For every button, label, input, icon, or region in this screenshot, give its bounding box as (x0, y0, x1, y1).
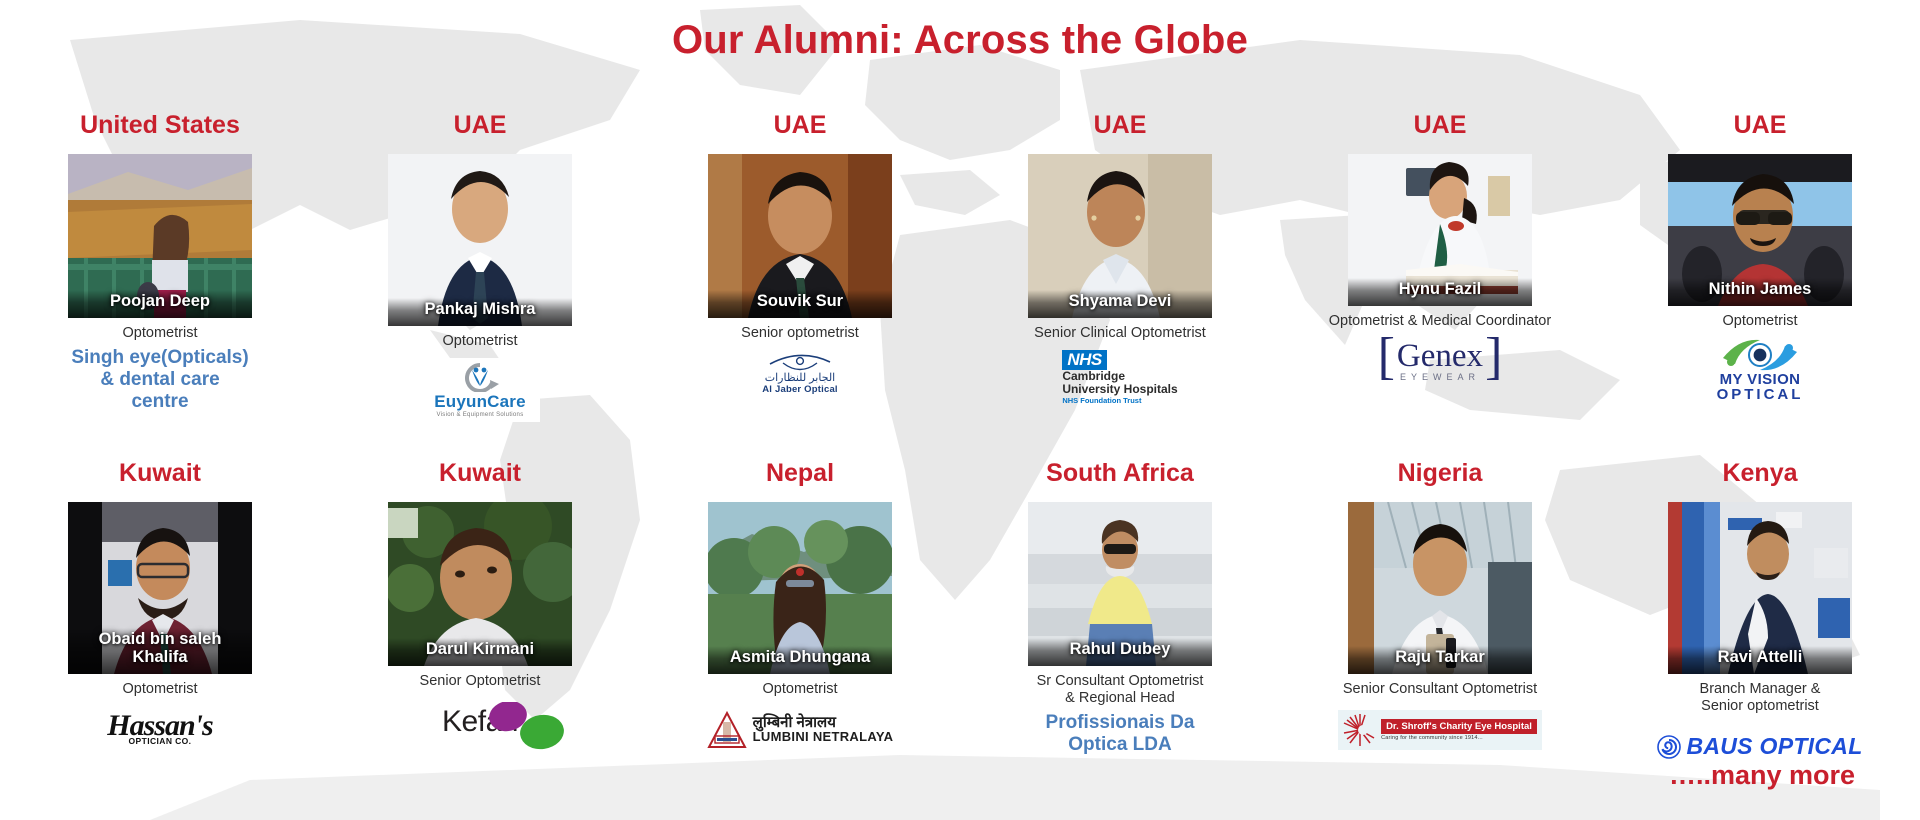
organization-logo: [ Genex ] EYEWEAR (1286, 338, 1594, 386)
alumni-photo: Souvik Sur (708, 154, 892, 318)
organization-logo: الجابر للنظارات Al Jaber Optical (646, 350, 954, 398)
alumni-name: Poojan Deep (68, 290, 252, 318)
nhs-line-3: NHS Foundation Trust (1062, 396, 1141, 405)
alumni-card[interactable]: UAE Shyama Devi Senior Clinical Optometr… (960, 112, 1280, 422)
organization-logo: Dr. Shroff's Charity Eye Hospital Caring… (1286, 706, 1594, 754)
nhs-badge: NHS (1062, 350, 1106, 370)
alumni-role: Senior Clinical Optometrist (1034, 325, 1206, 342)
bracket-left-icon: [ (1378, 341, 1395, 373)
alumni-organization: Profissionais Da Optica LDA (1046, 712, 1195, 756)
alumni-photo: Nithin James (1668, 154, 1852, 306)
alumni-name: Shyama Devi (1028, 290, 1212, 318)
alumni-card[interactable]: Nepal Asmita Dhungana (640, 460, 960, 771)
al-jaber-title: Al Jaber Optical (762, 384, 838, 395)
euyuncare-logo: EuyunCare Vision & Equipment Solutions (420, 358, 540, 422)
alumni-photo: Darul Kirmani (388, 502, 572, 666)
alumni-name: Asmita Dhungana (708, 646, 892, 674)
country-label: Kuwait (439, 460, 521, 488)
alumni-card[interactable]: Kuwait Darul Kirmani Senior Optom (320, 460, 640, 771)
dr-shroffs-charity-eye-hospital-logo: Dr. Shroff's Charity Eye Hospital Caring… (1338, 710, 1542, 750)
country-label: UAE (1094, 112, 1147, 140)
nhs-line-2: University Hospitals (1062, 383, 1177, 396)
eye-swirl-icon (1719, 338, 1801, 372)
alumni-organization: Singh eye(Opticals) & dental care centre (71, 347, 248, 413)
alumni-photo: Ravi Attelli (1668, 502, 1852, 674)
organization-logo: Kefan (326, 698, 634, 746)
alumni-role: Optometrist (443, 333, 518, 350)
shroffs-title: Dr. Shroff's Charity Eye Hospital (1381, 719, 1537, 734)
eye-mark-icon (767, 353, 833, 371)
alumni-role: Senior Consultant Optometrist (1343, 681, 1537, 698)
alumni-name: Nithin James (1668, 278, 1852, 306)
country-label: UAE (774, 112, 827, 140)
baus-spiral-icon (1657, 735, 1681, 759)
country-label: UAE (454, 112, 507, 140)
al-jaber-title-arabic: الجابر للنظارات (765, 371, 835, 384)
many-more-note: …..many more (1612, 760, 1912, 791)
alumni-card[interactable]: South Africa Rahul Dubey Sr Consultant O… (960, 460, 1280, 771)
country-label: Nepal (766, 460, 834, 488)
my-vision-subtitle: OPTICAL (1717, 387, 1804, 403)
alumni-name: Darul Kirmani (388, 638, 572, 666)
alumni-role: Optometrist (123, 325, 198, 342)
hassans-optician-logo: Hassan's OPTICIAN CO. (107, 713, 212, 747)
my-vision-optical-logo: MY VISION OPTICAL (1717, 338, 1804, 404)
alumni-card[interactable]: UAE Pankaj Mishra Optometrist (320, 112, 640, 422)
alumni-card[interactable]: United States (0, 112, 320, 422)
alumni-role: Optometrist (123, 681, 198, 698)
my-vision-title: MY VISION (1720, 372, 1801, 388)
alumni-name: Obaid bin saleh Khalifa (68, 628, 252, 674)
organization-logo: MY VISION OPTICAL (1606, 338, 1914, 404)
alumni-row-1: United States (0, 112, 1920, 422)
euyuncare-subtitle: Vision & Equipment Solutions (436, 412, 523, 418)
nhs-cambridge-logo: NHS Cambridge University Hospitals NHS F… (1062, 350, 1177, 405)
bracket-right-icon: ] (1485, 341, 1502, 373)
organization-logo: लुम्बिनी नेत्रालय LUMBINI NETRALAYA (646, 706, 954, 754)
alumni-role: Sr Consultant Optometrist & Regional Hea… (1037, 673, 1204, 707)
euyuncare-mark (449, 362, 511, 392)
organization-logo: Hassan's OPTICIAN CO. (6, 706, 314, 754)
alumni-row-2: Kuwait Obaid bin saleh Khalifa Op (0, 460, 1920, 771)
alumni-card[interactable]: Nigeria (1280, 460, 1600, 771)
alumni-photo: Obaid bin saleh Khalifa (68, 502, 252, 674)
lumbini-title-devanagari: लुम्बिनी नेत्रालय (753, 715, 836, 730)
alumni-name: Raju Tarkar (1348, 646, 1532, 674)
country-label: UAE (1414, 112, 1467, 140)
alumni-name: Hynu Fazil (1348, 278, 1532, 306)
alumni-photo: Poojan Deep (68, 154, 252, 318)
alumni-role: Branch Manager & Senior optometrist (1700, 681, 1821, 715)
lumbini-netralaya-logo: लुम्बिनी नेत्रालय LUMBINI NETRALAYA (707, 710, 894, 750)
euyuncare-title: EuyunCare (434, 392, 526, 412)
genex-subtitle: EYEWEAR (1400, 372, 1480, 382)
alumni-role: Optometrist (1723, 313, 1798, 330)
country-label: UAE (1734, 112, 1787, 140)
alumni-photo: Hynu Fazil (1348, 154, 1532, 306)
alumni-role: Optometrist (763, 681, 838, 698)
kefan-blobs-icon (480, 702, 590, 750)
alumni-photo: Pankaj Mishra (388, 154, 572, 326)
alumni-card[interactable]: Kuwait Obaid bin saleh Khalifa Op (0, 460, 320, 771)
alumni-card[interactable]: UAE Hynu Fazil Optomet (1280, 112, 1600, 422)
page-title: Our Alumni: Across the Globe (0, 18, 1920, 63)
alumni-name: Pankaj Mishra (388, 298, 572, 326)
organization-logo: NHS Cambridge University Hospitals NHS F… (966, 350, 1274, 405)
genex-wordmark: [ Genex ] (1378, 341, 1503, 373)
alumni-photo: Raju Tarkar (1348, 502, 1532, 674)
country-label: Kuwait (119, 460, 201, 488)
genex-title: Genex (1397, 342, 1483, 372)
alumni-name: Ravi Attelli (1668, 646, 1852, 674)
alumni-photo: Shyama Devi (1028, 154, 1212, 318)
lumbini-title: LUMBINI NETRALAYA (753, 730, 894, 744)
alumni-photo: Rahul Dubey (1028, 502, 1212, 666)
lumbini-emblem-icon (707, 710, 747, 750)
kefan-logo: Kefan (442, 708, 518, 735)
nhs-line-1: Cambridge (1062, 370, 1125, 383)
hassans-subtitle: OPTICIAN CO. (129, 736, 192, 746)
baus-title: BAUS OPTICAL (1686, 733, 1862, 760)
country-label: Kenya (1722, 460, 1797, 488)
alumni-role: Senior optometrist (741, 325, 859, 342)
alumni-card[interactable]: UAE Nithin James Optom (1600, 112, 1920, 422)
slide-canvas: Our Alumni: Across the Globe United Stat… (0, 0, 1920, 820)
genex-eyewear-logo: [ Genex ] EYEWEAR (1378, 341, 1503, 382)
alumni-photo: Asmita Dhungana (708, 502, 892, 674)
alumni-card[interactable]: Kenya Ravi Attelli (1600, 460, 1920, 771)
al-jaber-optical-logo: الجابر للنظارات Al Jaber Optical (762, 353, 838, 395)
shroffs-sunburst-icon (1343, 713, 1377, 747)
alumni-name: Souvik Sur (708, 290, 892, 318)
alumni-role: Senior Optometrist (420, 673, 541, 690)
organization-logo: EuyunCare Vision & Equipment Solutions (326, 358, 634, 422)
alumni-card[interactable]: UAE Souvik Sur Senior optometrist (640, 112, 960, 422)
alumni-role: Optometrist & Medical Coordinator (1329, 313, 1551, 330)
hassans-title: Hassan's (107, 713, 212, 739)
country-label: Nigeria (1398, 460, 1483, 488)
country-label: South Africa (1046, 460, 1194, 488)
baus-optical-logo: BAUS OPTICAL (1657, 733, 1862, 760)
shroffs-subtitle: Caring for the community since 1914... (1381, 735, 1483, 741)
country-label: United States (80, 112, 240, 140)
alumni-name: Rahul Dubey (1028, 638, 1212, 666)
